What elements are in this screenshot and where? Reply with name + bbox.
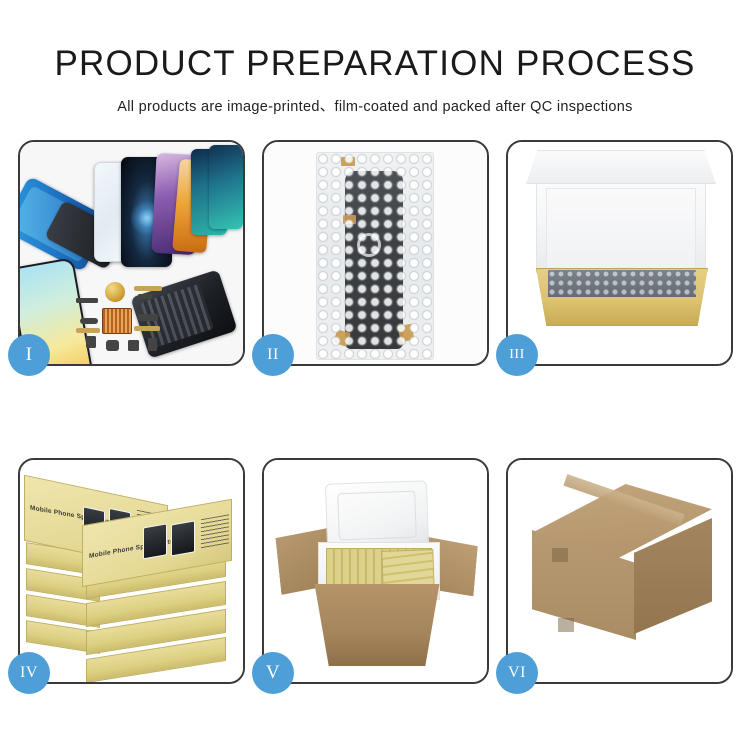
part-earpiece [76,298,98,303]
page-title: PRODUCT PREPARATION PROCESS [0,44,750,84]
step-badge-3: III [496,334,538,376]
part-connector [138,294,152,299]
carton-seam-upper [552,548,568,562]
step-badge-6: VI [496,652,538,694]
part-camera [80,318,98,324]
white-box-interior [546,188,696,274]
header: PRODUCT PREPARATION PROCESS All products… [0,44,750,116]
steps-grid: I II [18,140,734,684]
product-preparation-infographic: PRODUCT PREPARATION PROCESS All products… [0,0,750,750]
styrofoam-lid [325,480,429,550]
flex-cable-2 [76,328,100,333]
step-image-1 [20,142,243,364]
part-vibrator [138,314,158,321]
step-image-4: Mobile Phone Spare Parts Mobile Phone Sp… [20,460,243,682]
flex-cable-3 [134,326,160,331]
spare-parts-cluster [76,284,176,360]
box-artwork-screen-2b [171,520,195,556]
part-button [86,336,96,348]
part-taptic [106,340,119,351]
flex-cable-1 [134,286,162,291]
teal-phone-2 [209,145,243,229]
white-box-lid-flap [526,150,716,184]
logic-board-chip [102,308,132,334]
step-badge-1: I [8,334,50,376]
step-card-1: I [18,140,245,366]
part-sim-tray [128,340,139,351]
step-badge-4: IV [8,652,50,694]
step-card-5: V [262,458,489,684]
step-badge-2: II [252,334,294,376]
box-spec-lines-2 [201,514,229,549]
speaker-part [105,282,125,302]
carton-body [306,584,448,666]
step-image-5 [264,460,487,682]
step-image-6 [508,460,731,682]
bubble-texture-overlay [317,153,433,359]
step-card-2: II [262,140,489,366]
box-artwork-screen-2a [143,523,167,559]
step-badge-5: V [252,652,294,694]
carton-seam-lower [558,618,574,632]
step-image-3 [508,142,731,364]
page-subtitle: All products are image-printed、film-coat… [0,95,750,116]
step-image-2 [264,142,487,364]
yellow-box-front-lip [540,297,704,323]
bubble-wrap-bag [316,152,434,360]
step-card-4: Mobile Phone Spare Parts Mobile Phone Sp… [18,458,245,684]
part-battery-clip [148,338,157,351]
step-card-3: III [506,140,733,366]
step-card-6: VI [506,458,733,684]
box-stack: Mobile Phone Spare Parts Mobile Phone Sp… [20,460,243,682]
